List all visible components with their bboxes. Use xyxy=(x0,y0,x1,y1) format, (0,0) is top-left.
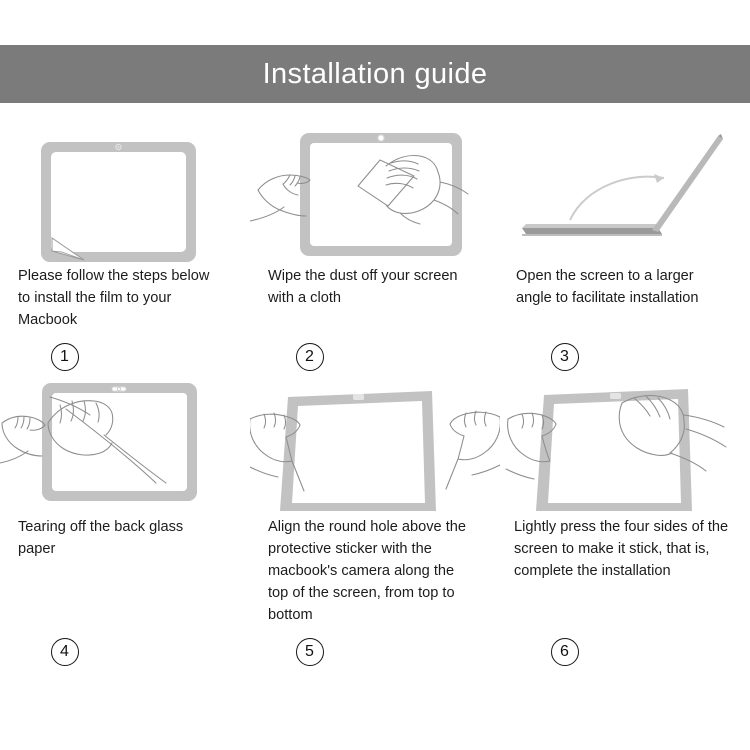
illustration-hands-tearing-back-paper xyxy=(0,371,250,516)
step-number-badge: 6 xyxy=(551,638,579,666)
illustration-hand-pressing-film-edges xyxy=(500,371,750,516)
step-card-5: Align the round hole above the protectiv… xyxy=(250,371,500,666)
step-card-6: Lightly press the four sides of the scre… xyxy=(500,371,750,666)
illustration-two-hands-aligning-film xyxy=(250,371,500,516)
steps-grid: Please follow the steps below to install… xyxy=(0,120,750,666)
step-card-3: Open the screen to a larger angle to fac… xyxy=(500,120,750,371)
step-number-badge: 4 xyxy=(51,638,79,666)
step-number-badge: 2 xyxy=(296,343,324,371)
illustration-hand-wiping-screen-with-cloth xyxy=(250,120,500,265)
illustration-laptop-side-view-opening-arrow xyxy=(500,120,750,265)
step-caption: Lightly press the four sides of the scre… xyxy=(514,516,736,626)
steps-row-bottom: Tearing off the back glass paper 4 xyxy=(0,371,750,666)
step-number-badge: 1 xyxy=(51,343,79,371)
illustration-laptop-screen-with-peeling-film-corner xyxy=(0,120,250,265)
step-caption: Align the round hole above the protectiv… xyxy=(268,516,476,626)
step-caption: Please follow the steps below to install… xyxy=(18,265,218,331)
step-number-badge: 3 xyxy=(551,343,579,371)
steps-row-top: Please follow the steps below to install… xyxy=(0,120,750,371)
page-title: Installation guide xyxy=(263,60,488,89)
step-caption: Tearing off the back glass paper xyxy=(18,516,223,626)
step-number-wrap: 3 xyxy=(450,331,750,371)
step-caption: Wipe the dust off your screen with a clo… xyxy=(268,265,468,331)
header-banner: Installation guide xyxy=(0,45,750,103)
step-number-wrap: 6 xyxy=(450,626,750,666)
step-caption: Open the screen to a larger angle to fac… xyxy=(516,265,716,331)
step-number-badge: 5 xyxy=(296,638,324,666)
step-card-4: Tearing off the back glass paper 4 xyxy=(0,371,250,666)
